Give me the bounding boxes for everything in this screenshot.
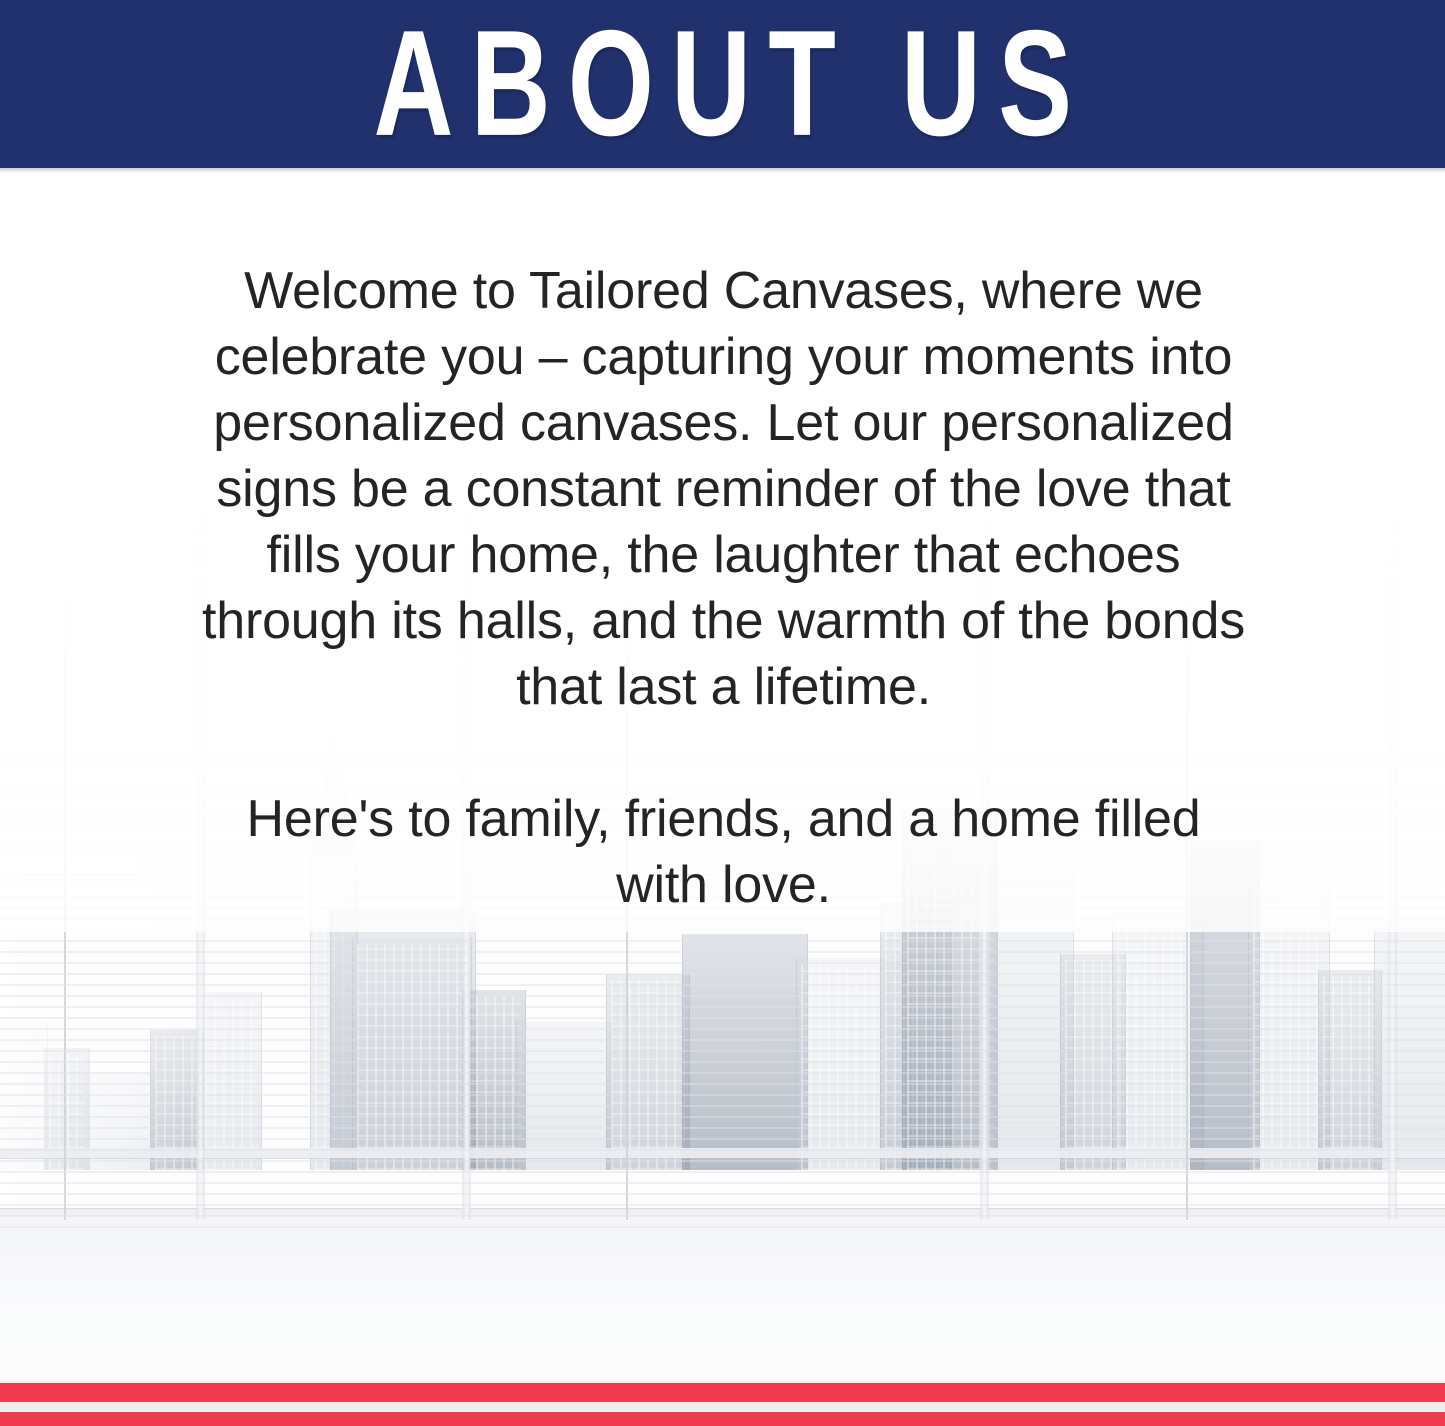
- footer-gap: [0, 1402, 1445, 1412]
- about-us-page: ABOUT US Welcome to Tailored Canvases, w…: [0, 0, 1445, 1426]
- header-banner: ABOUT US: [0, 0, 1445, 168]
- page-title: ABOUT US: [356, 9, 1089, 160]
- signature-block: Harley Founder of Tailored Canvases: [0, 1050, 1445, 1340]
- footer-accent-bar-bottom: [0, 1412, 1445, 1426]
- footer-accent-bar-top: [0, 1383, 1445, 1402]
- about-us-copy: Welcome to Tailored Canvases, where we c…: [196, 258, 1251, 918]
- about-paragraph-2: Here's to family, friends, and a home fi…: [196, 786, 1251, 918]
- header-drop-shadow: [0, 168, 1445, 173]
- about-paragraph-1: Welcome to Tailored Canvases, where we c…: [196, 258, 1251, 720]
